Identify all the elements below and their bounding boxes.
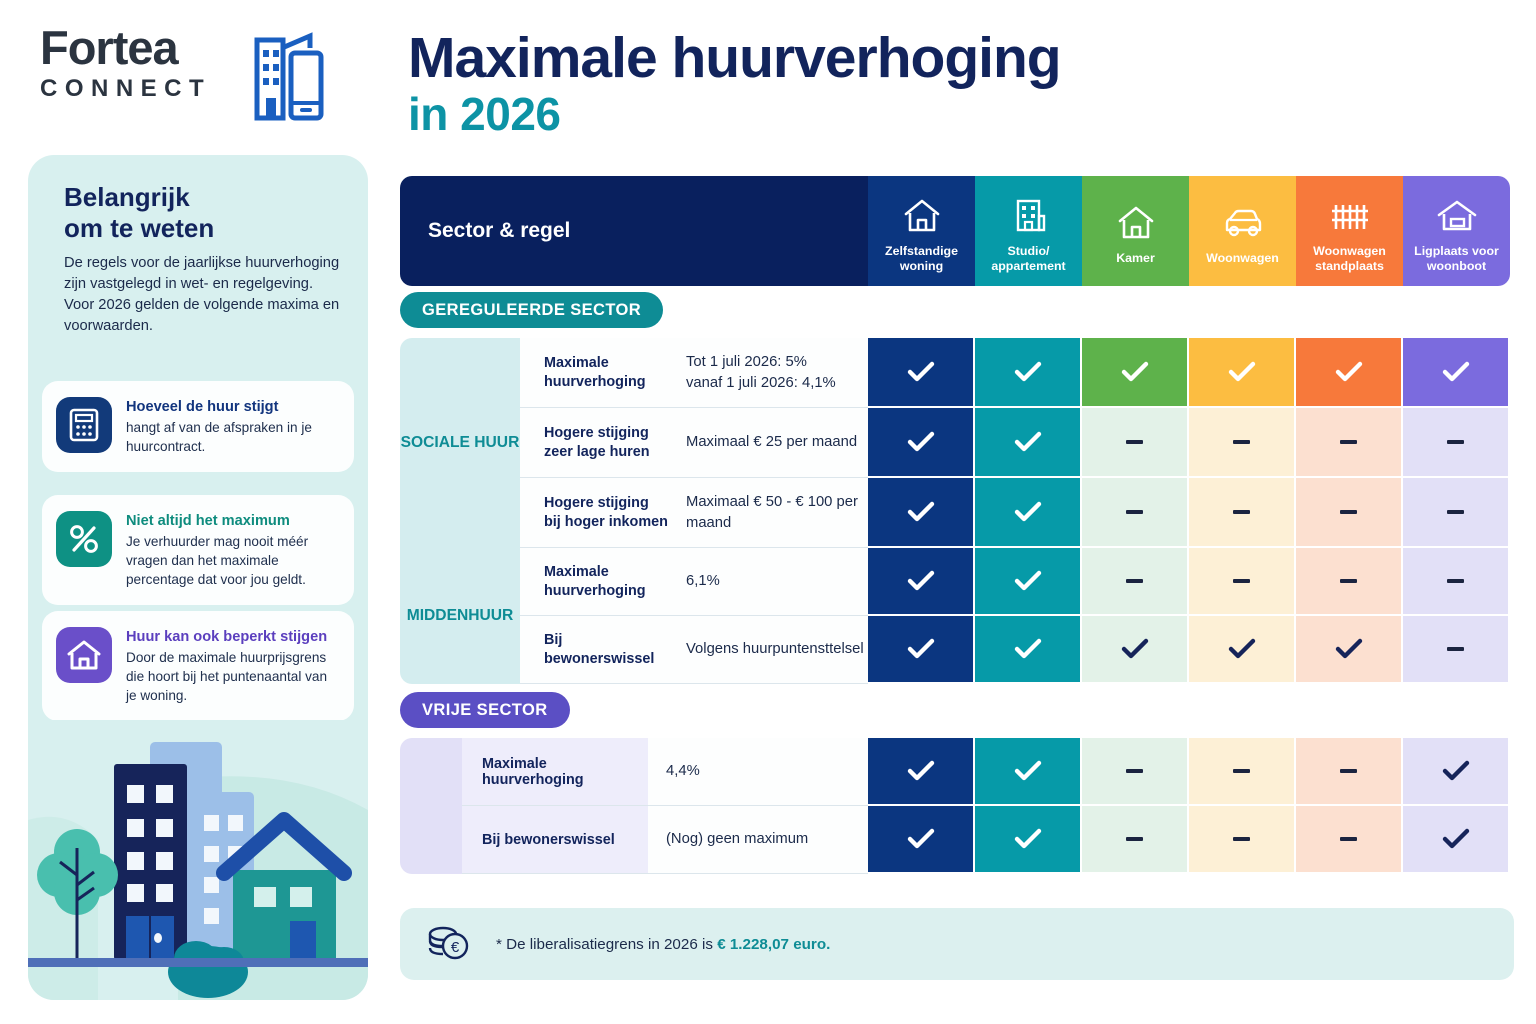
dash-icon (1189, 548, 1294, 614)
check-icon (1082, 616, 1187, 682)
rule-value-cell: (Nog) geen maximum (648, 806, 868, 874)
check-icon (1403, 806, 1508, 872)
check-icon (1082, 338, 1187, 406)
dash-icon (1403, 408, 1508, 476)
dash-icon (1082, 548, 1187, 614)
dash-icon (1189, 408, 1294, 476)
check-icon (868, 338, 973, 406)
dash-icon (1296, 408, 1401, 476)
column-header-label: Zelfstandige woning (868, 244, 975, 273)
euro-coins-icon: € (426, 922, 474, 967)
dash-icon (1403, 548, 1508, 614)
info-card-body: Je verhuurder mag nooit méér vragen dan … (126, 532, 340, 589)
info-card-body: hangt af van de afspraken in je huurcont… (126, 418, 340, 456)
column-header-label: Kamer (1116, 251, 1155, 266)
dash-icon (1296, 548, 1401, 614)
dash-icon (1296, 478, 1401, 546)
rule-label-cell: Maximale huurverhoging (520, 338, 668, 408)
house-icon (1116, 200, 1156, 242)
check-icon (1296, 338, 1401, 406)
info-card-title: Huur kan ook beperkt stijgen (126, 628, 340, 647)
info-card-title: Hoeveel de huur stijgt (126, 398, 340, 417)
sector-label-cell: SOCIALE HUUR (400, 338, 520, 548)
rule-value-cell: 6,1% (668, 548, 868, 616)
check-icon (1189, 338, 1294, 406)
check-icon (975, 408, 1080, 476)
dash-icon (1189, 806, 1294, 872)
title-line-1: Maximale huurverhoging (408, 28, 1061, 88)
dash-icon (1082, 408, 1187, 476)
info-card-limited-increase: Huur kan ook beperkt stijgen Door de max… (42, 611, 354, 721)
sidebar-heading-line-1: Belangrijk (64, 182, 214, 213)
column-header-label: Woonwagen (1206, 251, 1279, 266)
footnote-bar: € * De liberalisatiegrens in 2026 is € 1… (400, 908, 1514, 980)
footnote-lead: * De liberalisatiegrens in 2026 is (496, 936, 717, 953)
dash-icon (1403, 478, 1508, 546)
check-icon (1189, 616, 1294, 682)
column-header-zelfstandige-woning: Zelfstandige woning (868, 176, 975, 286)
percent-icon (56, 511, 112, 567)
title-line-2: in 2026 (408, 88, 1061, 140)
table-header: Sector & regel Zelfstandige woning Studi… (400, 176, 1510, 286)
check-icon (868, 738, 973, 804)
dash-icon (1189, 738, 1294, 804)
check-icon (975, 548, 1080, 614)
check-icon (975, 806, 1080, 872)
column-header-woonwagen: Woonwagen (1189, 176, 1296, 286)
check-icon (975, 478, 1080, 546)
check-icon (1296, 616, 1401, 682)
check-icon (868, 616, 973, 682)
column-header-label: Studio/ appartement (975, 244, 1082, 273)
column-header-kamer: Kamer (1082, 176, 1189, 286)
check-icon (1403, 338, 1508, 406)
check-icon (868, 408, 973, 476)
apartment-icon (1009, 193, 1049, 235)
sidebar-heading-line-2: om te weten (64, 213, 214, 244)
boathouse-icon (1435, 193, 1479, 235)
house-icon (56, 627, 112, 683)
rule-value-cell: Tot 1 juli 2026: 5% vanaf 1 juli 2026: 4… (668, 338, 868, 408)
section-pill-vrije-sector: VRIJE SECTOR (400, 692, 570, 728)
footnote-amount: € 1.228,07 euro. (717, 936, 830, 953)
check-icon (1403, 738, 1508, 804)
rule-value-cell: Maximaal € 25 per maand (668, 408, 868, 478)
check-icon (868, 478, 973, 546)
table-header-main-label: Sector & regel (400, 176, 868, 286)
section-pill-gereguleerde-sector: GEREGULEERDE SECTOR (400, 292, 663, 328)
infographic-page: Fortea CONNECT Maximale huurverhoging in… (0, 0, 1536, 1024)
info-card-rent-increase: Hoeveel de huur stijgt hangt af van de a… (42, 381, 354, 472)
column-header-studio-appartement: Studio/ appartement (975, 176, 1082, 286)
dash-icon (1296, 806, 1401, 872)
rule-value-cell: Maximaal € 50 - € 100 per maand (668, 478, 868, 548)
dash-icon (1403, 616, 1508, 682)
footnote-text: * De liberalisatiegrens in 2026 is € 1.2… (496, 936, 830, 953)
sector-label-cell: MIDDENHUUR (400, 548, 520, 684)
svg-text:€: € (451, 939, 460, 956)
caravan-car-icon (1221, 200, 1265, 242)
check-icon (868, 548, 973, 614)
sidebar-intro: De regels voor de jaarlijkse huurverhogi… (64, 253, 344, 337)
dash-icon (1082, 738, 1187, 804)
calculator-icon (56, 397, 112, 453)
check-icon (975, 738, 1080, 804)
rule-label-cell: Maximale huurverhoging (462, 738, 648, 806)
info-card-not-always-max: Niet altijd het maximum Je verhuurder ma… (42, 495, 354, 605)
check-icon (868, 806, 973, 872)
check-icon (975, 616, 1080, 682)
fence-icon (1329, 193, 1371, 235)
city-houses-tree-illustration (28, 720, 368, 1000)
sector-label-cell (400, 738, 462, 874)
info-card-body: Door de maximale huurprijsgrens die hoor… (126, 648, 340, 705)
dash-icon (1189, 478, 1294, 546)
info-card-title: Niet altijd het maximum (126, 512, 340, 531)
page-title: Maximale huurverhoging in 2026 (408, 28, 1061, 140)
sidebar-panel: Belangrijk om te weten De regels voor de… (28, 155, 368, 1000)
rule-label-cell: Hogere stijging zeer lage huren (520, 408, 668, 478)
dash-icon (1082, 478, 1187, 546)
check-icon (975, 338, 1080, 406)
sidebar-heading: Belangrijk om te weten (64, 182, 214, 244)
column-header-label: Woonwagen standplaats (1296, 244, 1403, 273)
rule-label-cell: Bij bewonerswissel (462, 806, 648, 874)
house-icon (902, 193, 942, 235)
column-header-label: Ligplaats voor woonboot (1403, 244, 1510, 273)
rule-value-cell: Volgens huurpuntensttelsel (668, 616, 868, 684)
dash-icon (1296, 738, 1401, 804)
column-header-woonwagen-standplaats: Woonwagen standplaats (1296, 176, 1403, 286)
rule-label-cell: Hogere stijging bij hoger inkomen (520, 478, 668, 548)
buildings-phone-icon (252, 26, 348, 126)
brand-logo: Fortea CONNECT (40, 22, 370, 127)
dash-icon (1082, 806, 1187, 872)
rule-label-cell: Bij bewonerswissel (520, 616, 668, 684)
column-header-ligplaats-woonboot: Ligplaats voor woonboot (1403, 176, 1510, 286)
rule-value-cell: 4,4% (648, 738, 868, 806)
rule-label-cell: Maximale huurverhoging (520, 548, 668, 616)
